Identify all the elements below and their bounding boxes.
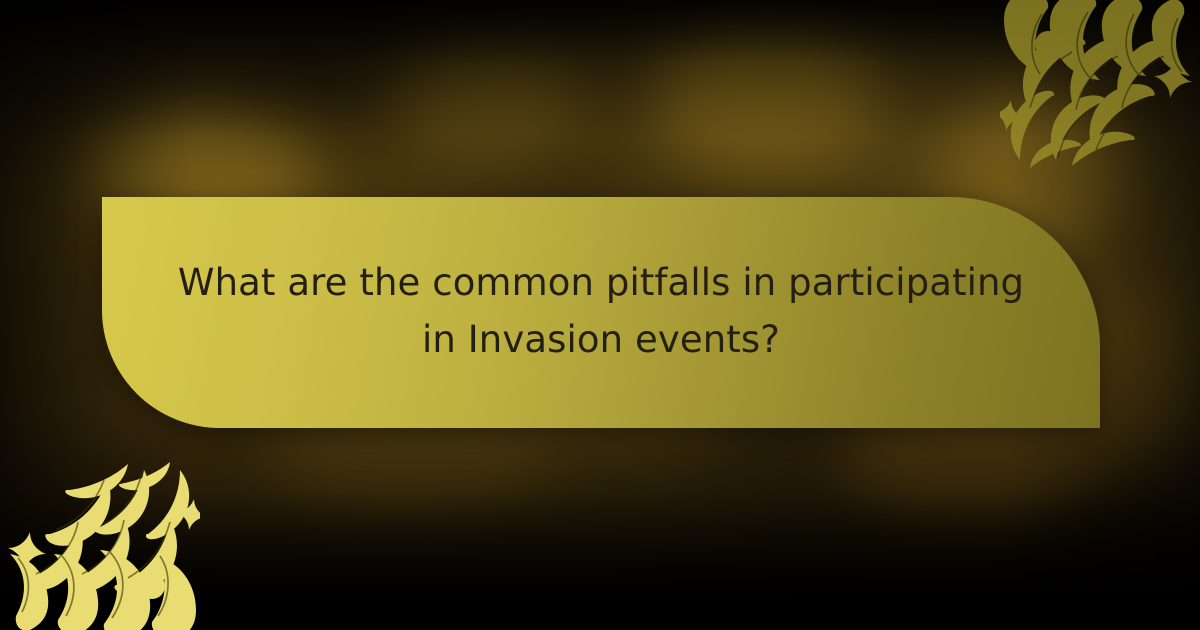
top-right-floral-corner-icon (1000, 0, 1200, 168)
question-card-canvas: What are the common pitfalls in particip… (0, 0, 1200, 630)
question-plaque: What are the common pitfalls in particip… (102, 197, 1100, 428)
question-text: What are the common pitfalls in particip… (171, 255, 1031, 369)
bottom-left-floral-corner-icon (0, 462, 200, 630)
